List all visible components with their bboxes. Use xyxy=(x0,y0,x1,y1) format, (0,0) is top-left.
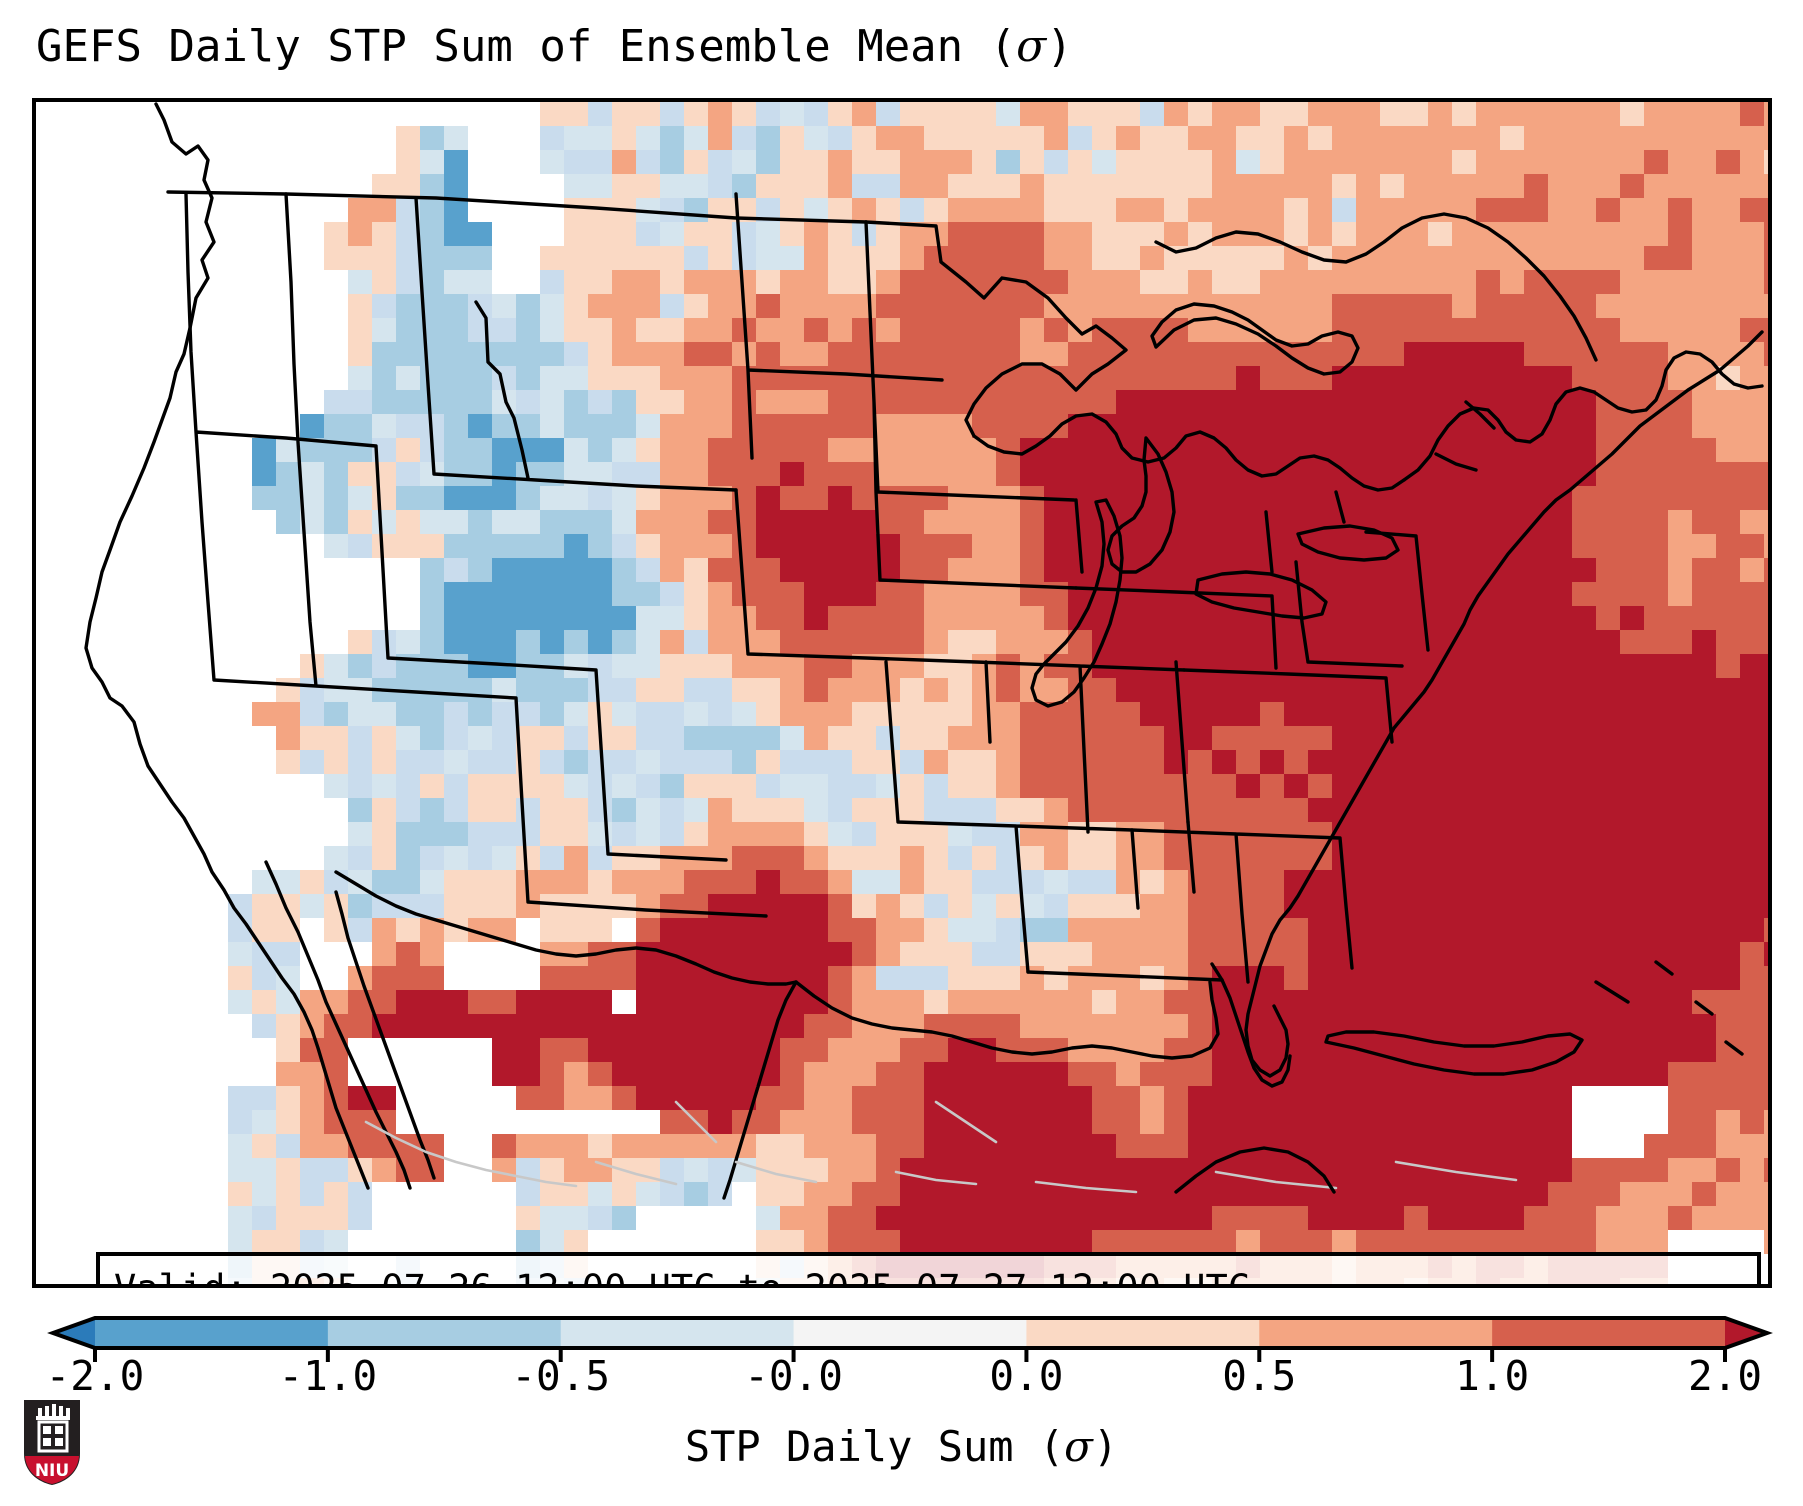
us-mexico-border xyxy=(336,872,796,984)
colorbar-segment-1 xyxy=(328,1318,561,1348)
colorbar-tick-label: -0.5 xyxy=(511,1352,610,1400)
colorbar-segment-5 xyxy=(1259,1318,1492,1348)
colorbar-segment-2 xyxy=(561,1318,794,1348)
bahamas-outline xyxy=(1596,962,1742,1054)
cblabel-sigma: σ xyxy=(1064,1422,1093,1471)
colorbar-tick-label: -1.0 xyxy=(278,1352,377,1400)
niu-logo: NIU xyxy=(18,1396,86,1488)
canada-border-west xyxy=(168,192,866,222)
title-text-before: GEFS Daily STP Sum of Ensemble Mean ( xyxy=(36,21,1016,72)
page-title: GEFS Daily STP Sum of Ensemble Mean (σ) xyxy=(36,14,1776,80)
colorbar-tick-label: 1.0 xyxy=(1455,1352,1529,1400)
colorbar-segment-0 xyxy=(95,1318,328,1348)
coastline-pacific xyxy=(86,104,368,1188)
canada-us-border-central xyxy=(866,222,1404,490)
title-text-after: ) xyxy=(1046,21,1073,72)
map-plot-area[interactable]: Valid: 2025-07-26 12:00 UTC to 2025-07-2… xyxy=(32,98,1772,1288)
niu-logo-text: NIU xyxy=(35,1461,69,1481)
canada-border-east xyxy=(1404,352,1762,480)
colorbar-axis-label: STP Daily Sum (σ) xyxy=(0,1420,1803,1474)
map-canvas: Valid: 2025-07-26 12:00 UTC to 2025-07-2… xyxy=(36,102,1768,1284)
colorbar-over-arrow xyxy=(1725,1318,1767,1348)
title-sigma: σ xyxy=(1016,21,1046,72)
valid-time-line: Valid: 2025-07-26 12:00 UTC to 2025-07-2… xyxy=(114,1262,1743,1288)
colorbar-tick-label: 0.5 xyxy=(1222,1352,1296,1400)
gulf-coast xyxy=(796,982,1218,1058)
state-borders-west xyxy=(186,194,766,916)
coastline-atlantic xyxy=(1246,332,1762,1076)
mexico-internal-borders xyxy=(366,1102,1516,1192)
forecast-info-box: Valid: 2025-07-26 12:00 UTC to 2025-07-2… xyxy=(96,1252,1761,1288)
lake-ontario xyxy=(1298,526,1398,560)
colorbar-tick-label: -0.0 xyxy=(744,1352,843,1400)
mexico-gulf-coast xyxy=(724,982,796,1198)
colorbar-tick-label: 2.0 xyxy=(1688,1352,1762,1400)
colorbar-segment-4 xyxy=(1026,1318,1259,1348)
cblabel-before: STP Daily Sum ( xyxy=(685,1422,1064,1471)
colorbar-segment-6 xyxy=(1492,1318,1725,1348)
colorbar[interactable]: -2.0-1.0-0.5-0.00.00.51.02.0 xyxy=(0,1300,1803,1370)
ontario-quebec-outline xyxy=(1156,214,1596,360)
colorbar-segment-3 xyxy=(794,1318,1027,1348)
geographic-boundaries xyxy=(36,102,1768,1284)
colorbar-under-arrow xyxy=(53,1318,95,1348)
florida-peninsula xyxy=(1212,964,1290,1086)
colorbar-tick-label: 0.0 xyxy=(989,1352,1063,1400)
colorbar-tick-label: -2.0 xyxy=(46,1352,145,1400)
colorbar-tick-labels: -2.0-1.0-0.5-0.00.00.51.02.0 xyxy=(0,1352,1803,1412)
cuba-outline xyxy=(1326,1032,1582,1074)
lake-superior xyxy=(1152,304,1358,374)
cblabel-after: ) xyxy=(1093,1422,1118,1471)
